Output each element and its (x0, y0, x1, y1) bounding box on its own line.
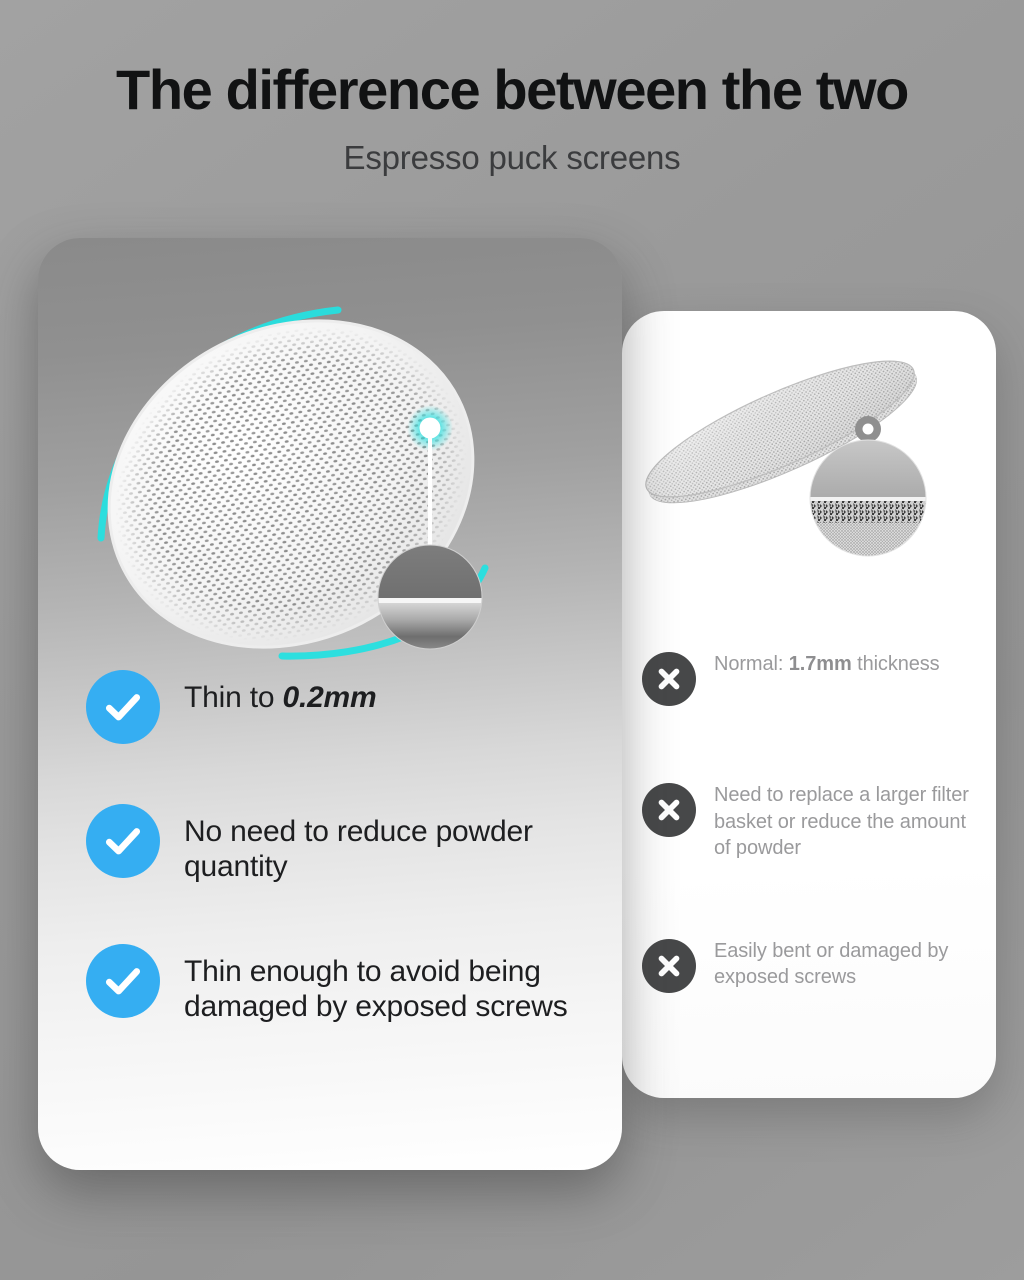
x-circle-icon (642, 652, 696, 706)
list-item-label: Thin enough to avoid being damaged by ex… (184, 942, 616, 1024)
list-item-label: Thin to 0.2mm (184, 668, 377, 715)
x-circle-icon (642, 939, 696, 993)
list-item: Thin to 0.2mm (86, 668, 616, 744)
list-item: Thin enough to avoid being damaged by ex… (86, 942, 616, 1024)
cross-section-magnifier (810, 440, 926, 559)
list-item-label: Easily bent or damaged by exposed screws (714, 936, 982, 991)
list-item: Need to replace a larger filter basket o… (642, 780, 982, 862)
list-item-label: Normal: 1.7mm thickness (714, 649, 940, 678)
cross-section-magnifier (378, 545, 482, 651)
page-header: The difference between the two Espresso … (0, 0, 1024, 174)
list-item-label: Need to replace a larger filter basket o… (714, 780, 982, 862)
thin-screen-illustration (38, 238, 622, 668)
list-item-label: No need to reduce powder quantity (184, 802, 616, 884)
check-circle-icon (86, 944, 160, 1018)
thin-screen-card: Thin to 0.2mm No need to reduce powder q… (38, 238, 622, 1170)
page-subtitle: Espresso puck screens (0, 141, 1024, 174)
normal-screen-card: Normal: 1.7mm thickness Need to replace … (622, 311, 996, 1098)
list-item: Normal: 1.7mm thickness (642, 649, 982, 706)
x-circle-icon (642, 783, 696, 837)
thin-screen-feature-list: Thin to 0.2mm No need to reduce powder q… (86, 668, 616, 1024)
check-circle-icon (86, 670, 160, 744)
check-circle-icon (86, 804, 160, 878)
list-item: Easily bent or damaged by exposed screws (642, 936, 982, 993)
ring-marker (855, 416, 881, 442)
normal-screen-feature-list: Normal: 1.7mm thickness Need to replace … (642, 649, 982, 993)
page-title: The difference between the two (0, 62, 1024, 118)
normal-screen-illustration (622, 311, 996, 641)
list-item: No need to reduce powder quantity (86, 802, 616, 884)
